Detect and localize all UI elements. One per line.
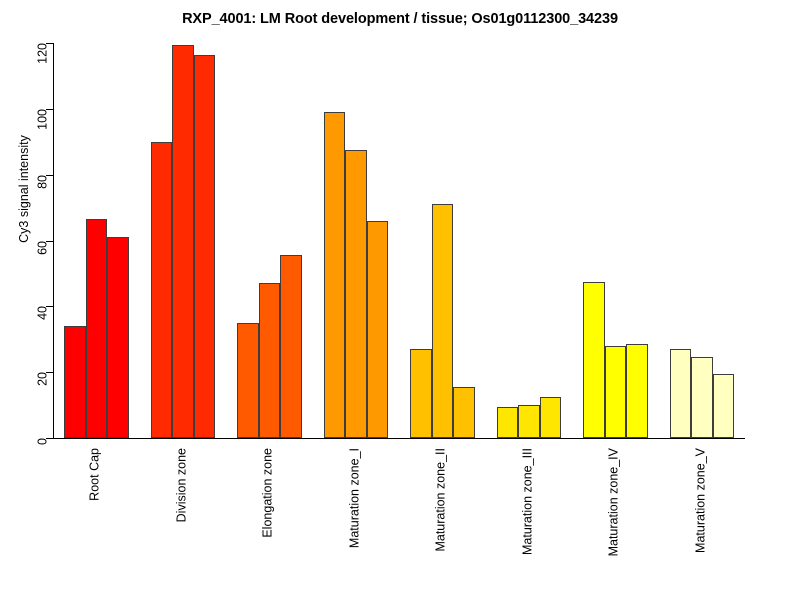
bar	[605, 346, 627, 438]
bar	[432, 204, 454, 438]
bar	[367, 221, 389, 438]
y-tick-label-text: 0	[37, 438, 50, 445]
bar	[626, 344, 648, 438]
bar	[497, 407, 519, 438]
bar	[86, 219, 108, 438]
plot-area: 020406080100120 Root CapDivision zoneElo…	[53, 43, 745, 438]
bar-chart: RXP_4001: LM Root development / tissue; …	[0, 0, 800, 600]
bar	[670, 349, 692, 438]
y-tick-label-text: 60	[37, 241, 50, 255]
bar	[324, 112, 346, 438]
x-category-label-text: Maturation zone_III	[521, 448, 534, 555]
bar	[583, 282, 605, 438]
y-tick-label-text: 120	[37, 43, 50, 64]
x-category-label-text: Maturation zone_IV	[608, 448, 621, 556]
bar	[280, 255, 302, 438]
bar	[172, 45, 194, 438]
bar	[410, 349, 432, 438]
y-tick-label-text: 80	[37, 175, 50, 189]
bar	[259, 283, 281, 438]
bar	[518, 405, 540, 438]
x-category-label-text: Division zone	[175, 448, 188, 522]
x-category-label-text: Root Cap	[89, 448, 102, 501]
y-tick-label-text: 40	[37, 306, 50, 320]
x-axis-line	[53, 438, 745, 439]
bar	[64, 326, 86, 438]
bar	[194, 55, 216, 438]
bar	[237, 323, 259, 438]
bar	[540, 397, 562, 438]
y-tick-label-text: 100	[37, 109, 50, 130]
bar	[151, 142, 173, 438]
bar	[453, 387, 475, 438]
y-tick-label-text: 20	[37, 372, 50, 386]
chart-title: RXP_4001: LM Root development / tissue; …	[0, 11, 800, 27]
bar	[691, 357, 713, 438]
bar	[107, 237, 129, 438]
x-category-label-text: Maturation zone_I	[348, 448, 361, 548]
bar	[713, 374, 735, 438]
x-category-label-text: Maturation zone_II	[435, 448, 448, 552]
y-axis-label: Cy3 signal intensity	[17, 69, 31, 309]
x-category-label-text: Elongation zone	[262, 448, 275, 538]
x-category-label-text: Maturation zone_V	[694, 448, 707, 553]
bar	[345, 150, 367, 438]
